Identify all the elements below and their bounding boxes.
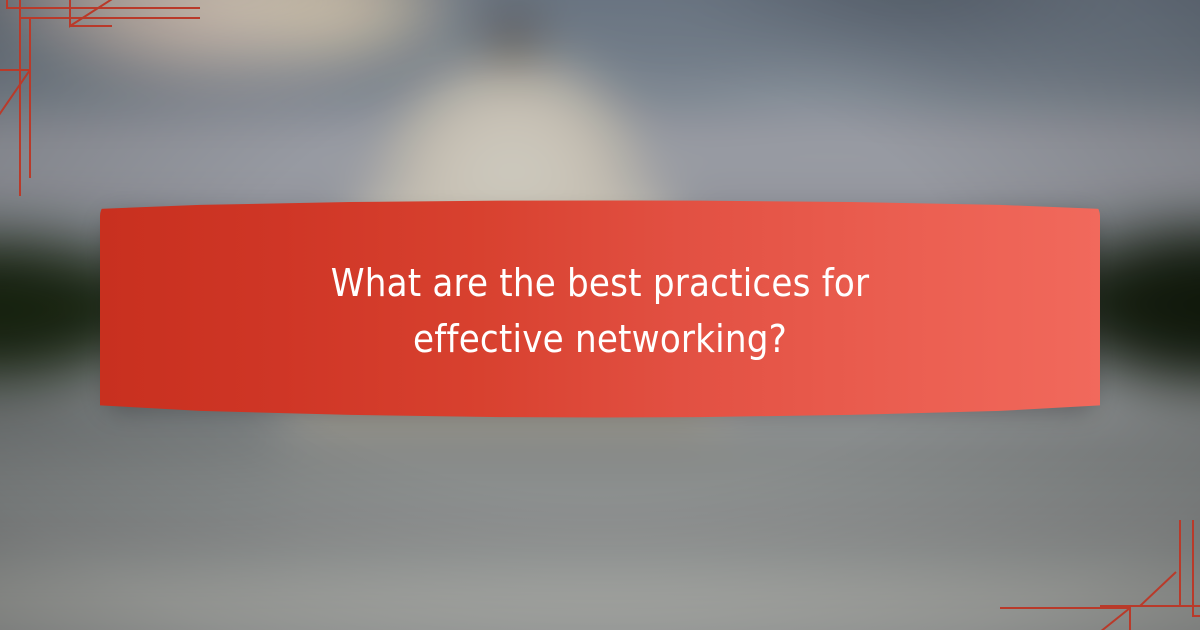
social-card-canvas: What are the best practices for effectiv… xyxy=(0,0,1200,630)
question-title: What are the best practices for effectiv… xyxy=(250,255,950,367)
question-card: What are the best practices for effectiv… xyxy=(100,200,1100,422)
card-text-area: What are the best practices for effectiv… xyxy=(100,200,1100,422)
plaza-ground xyxy=(0,420,1200,570)
